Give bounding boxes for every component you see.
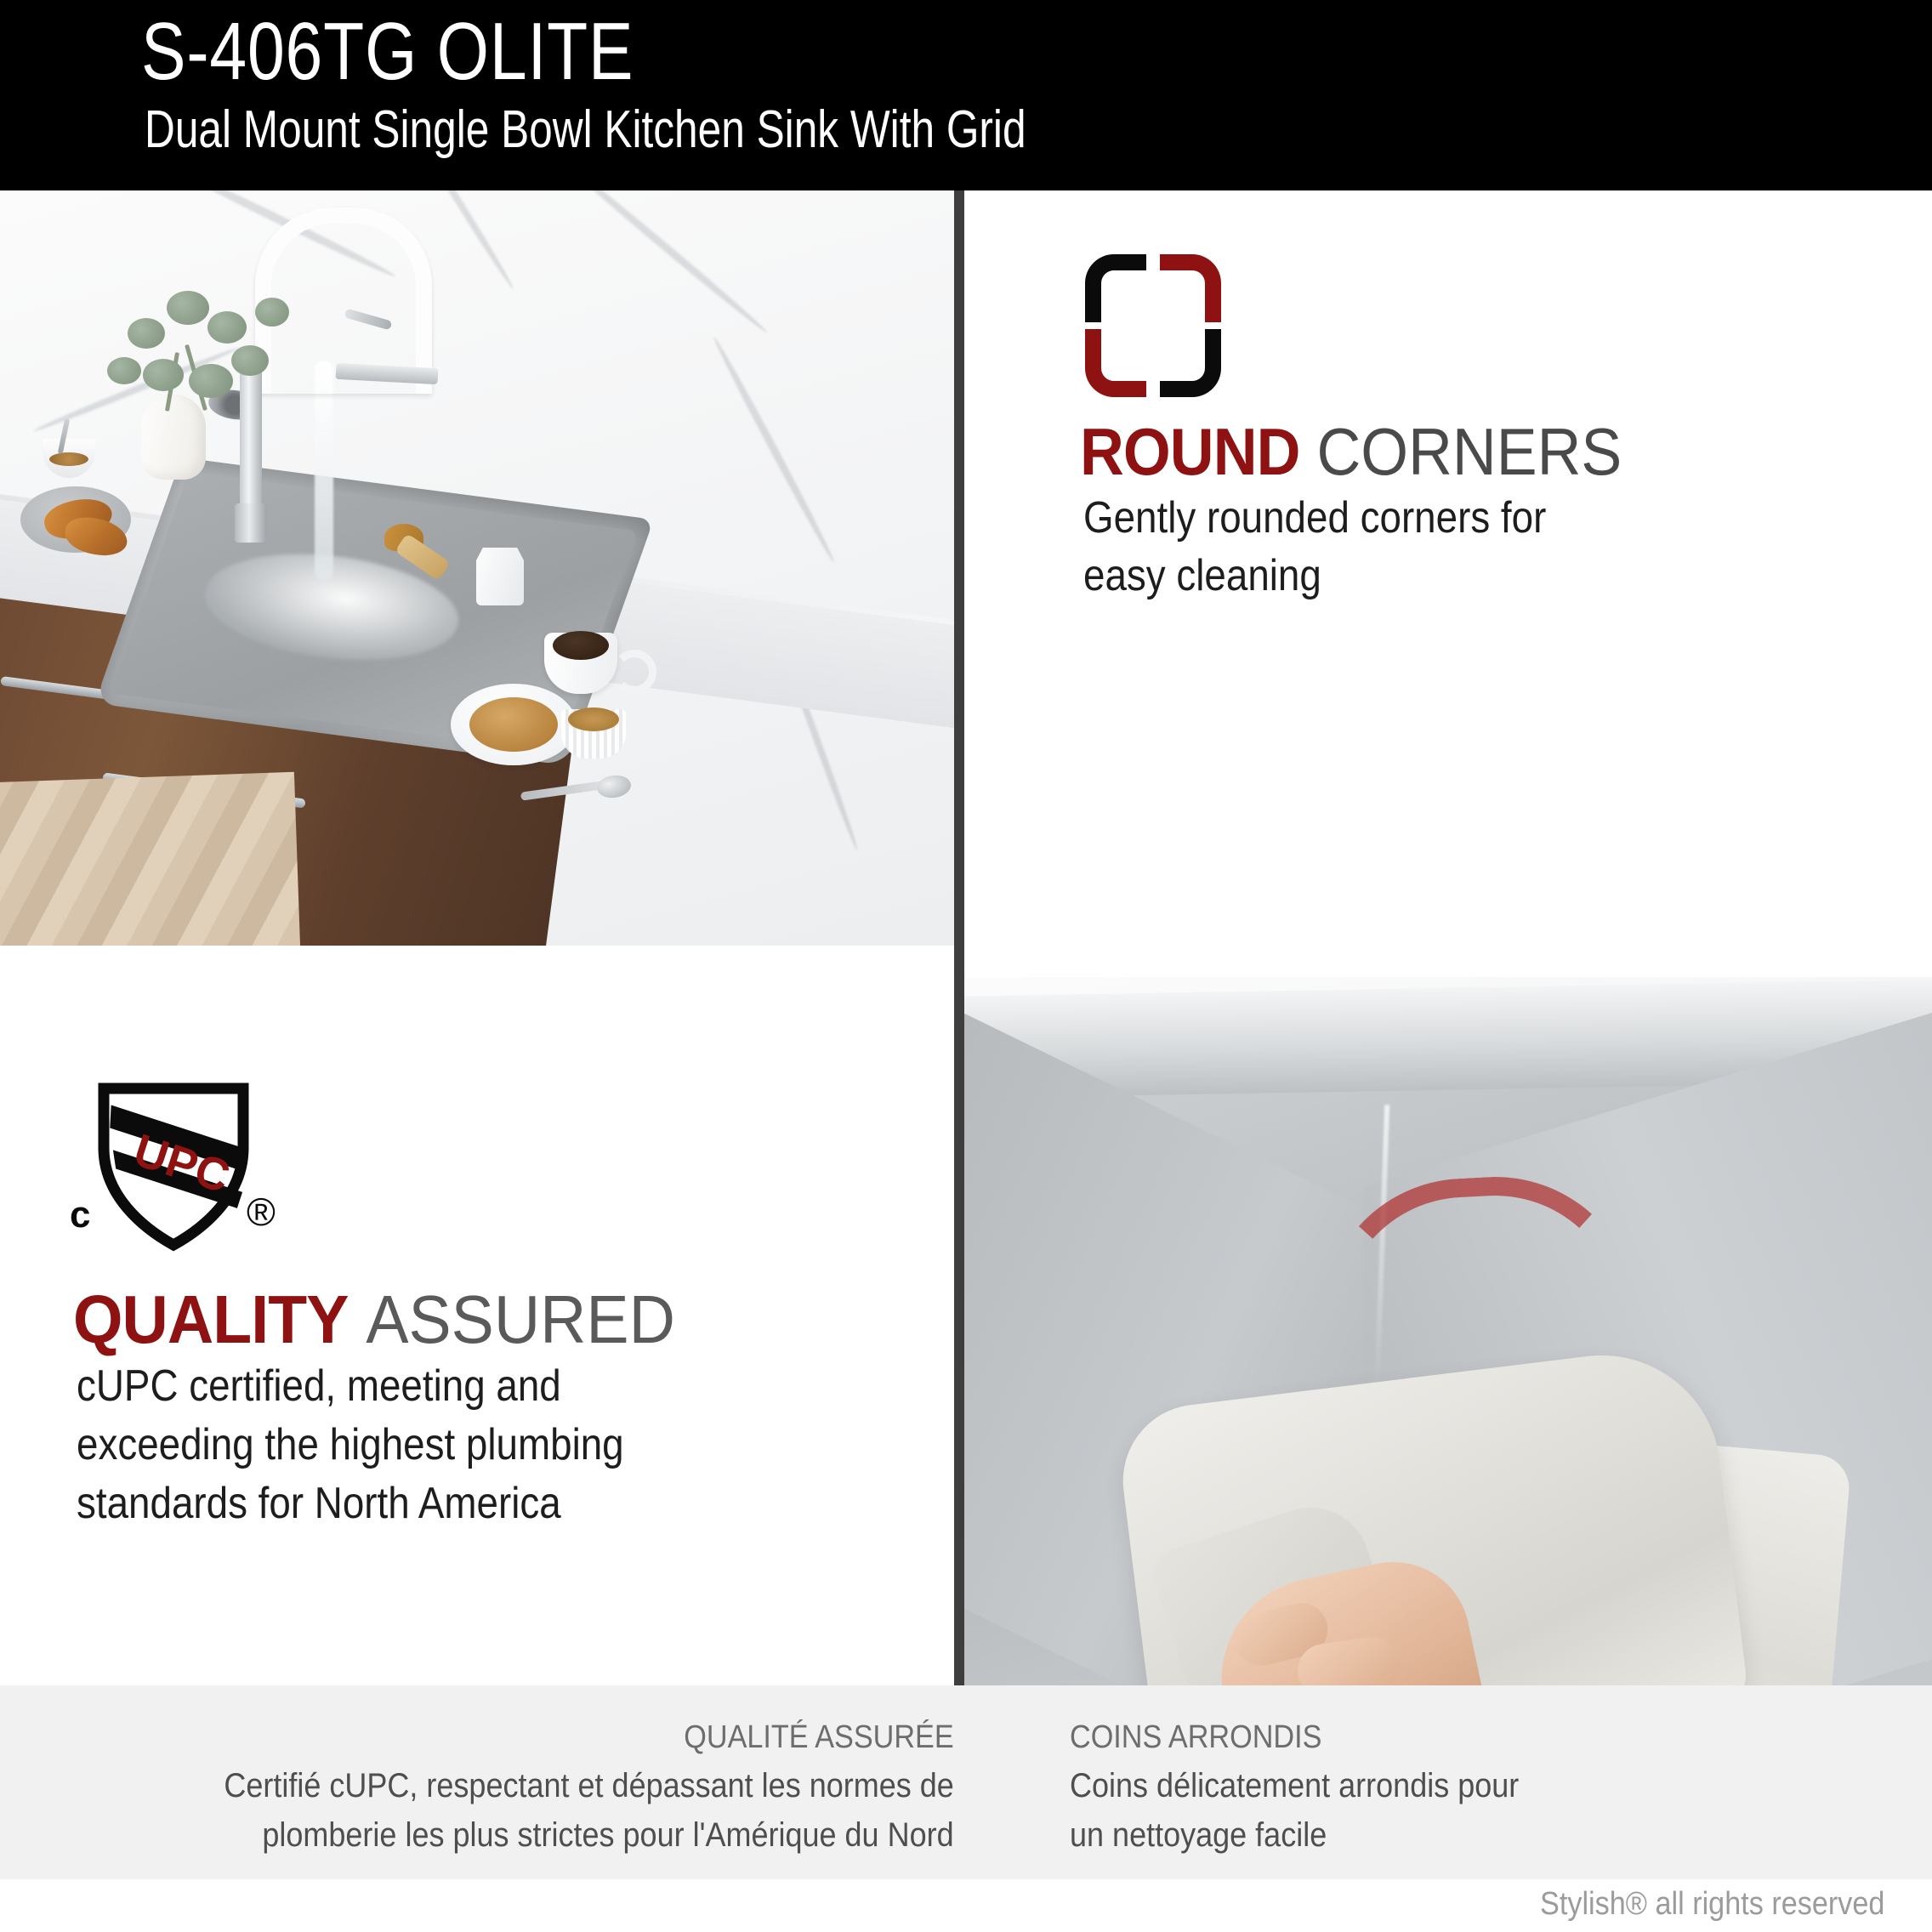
water-stream: [315, 361, 333, 582]
wood-floor: [0, 772, 301, 946]
vertical-divider-top: [954, 190, 964, 977]
cookie: [469, 697, 558, 752]
round-corners-heading-strong: ROUND: [1080, 414, 1300, 489]
quality-assured-heading-light: ASSURED: [366, 1281, 675, 1357]
soap-dispenser: [476, 548, 524, 605]
cupc-prefix-letter: c: [70, 1194, 90, 1236]
round-corners-heading: ROUND CORNERS: [1080, 418, 1622, 485]
quality-line-1: cUPC certified, meeting and: [77, 1357, 624, 1416]
footer-right-title: COINS ARRONDIS: [1070, 1714, 1321, 1761]
product-feature-sheet: S-406TG OLITE Dual Mount Single Bowl Kit…: [0, 0, 1932, 1932]
footer-right-line-1: Coins délicatement arrondis pour: [1070, 1761, 1519, 1810]
feature-quality-assured: UPC c ® QUALITY ASSURED cUPC certified, …: [0, 946, 954, 1685]
faucet-body: [240, 369, 262, 522]
mug-handle: [612, 650, 656, 694]
kitchen-scene-image: [0, 190, 954, 946]
feature-round-corners: ROUND CORNERS Gently rounded corners for…: [964, 190, 1932, 977]
hero-kitchen-photo: [0, 190, 954, 946]
round-corners-heading-light: CORNERS: [1316, 414, 1622, 489]
faucet-head: [235, 503, 267, 543]
footer-right-column: COINS ARRONDIS Coins délicatement arrond…: [1070, 1714, 1920, 1860]
footer-left-column: QUALITÉ ASSURÉE Certifié cUPC, respectan…: [51, 1714, 954, 1860]
corner-closeup-photo: [964, 977, 1932, 1685]
quality-assured-heading: QUALITY ASSURED: [73, 1286, 675, 1354]
page-title: S-406TG OLITE: [141, 10, 634, 94]
footer-left-title: QUALITÉ ASSURÉE: [685, 1714, 954, 1761]
coffee-liquid: [553, 631, 609, 660]
granola-in-bowl: [49, 452, 88, 466]
granola: [568, 707, 619, 731]
round-corners-line-2: easy cleaning: [1083, 548, 1546, 605]
sink-corner-image: [964, 977, 1932, 1685]
quality-line-2: exceeding the highest plumbing: [77, 1416, 624, 1475]
footer-right-line-2: un nettoyage facile: [1070, 1810, 1327, 1860]
quality-assured-heading-strong: QUALITY: [73, 1281, 348, 1357]
quality-assured-description: cUPC certified, meeting and exceeding th…: [77, 1357, 624, 1533]
copyright-notice: Stylish® all rights reserved: [1540, 1886, 1884, 1923]
spoon-bowl: [595, 773, 632, 799]
round-corners-description: Gently rounded corners for easy cleaning: [1083, 490, 1546, 605]
header-bar: S-406TG OLITE Dual Mount Single Bowl Kit…: [0, 0, 1932, 190]
round-corners-line-1: Gently rounded corners for: [1083, 490, 1546, 548]
round-corner-brackets-icon: [1085, 254, 1221, 397]
footer-left-line-2: plomberie les plus strictes pour l'Améri…: [263, 1810, 954, 1860]
page-subtitle: Dual Mount Single Bowl Kitchen Sink With…: [145, 102, 1026, 157]
ceramic-vase: [141, 395, 206, 480]
footer-left-line-1: Certifié cUPC, respectant et dépassant l…: [224, 1761, 954, 1810]
registered-mark: ®: [247, 1189, 276, 1235]
quality-line-3: standards for North America: [77, 1475, 624, 1533]
vertical-divider-bottom: [954, 977, 964, 1685]
